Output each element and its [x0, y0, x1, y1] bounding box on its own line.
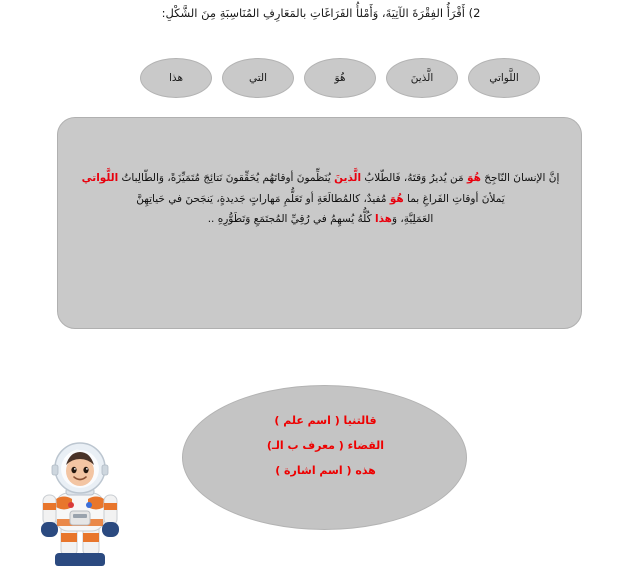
paragraph-panel: إنَّ الإنسانَ النّاجِحَ هُوَ مَن يُديرُ …: [57, 117, 582, 329]
instruction-heading: 2) أَقْرَأُ الفِقْرَةَ الآتِيَةَ، وَأَمْ…: [0, 6, 642, 20]
answer-line-1: قالتنيا ( اسم علم ): [183, 408, 468, 433]
answer-list: قالتنيا ( اسم علم ) القضاء ( معرف ب الـ)…: [183, 408, 468, 483]
filled-answer-1-4: الَّذينَ: [334, 172, 361, 184]
word-bubble-allawati[interactable]: اللَّواتي: [468, 58, 540, 98]
paragraph-segment-1-5: يُنَظِّمونَ أوقاتَهُم يُحَقِّقونَ نَتائِ…: [118, 172, 334, 184]
filled-answer-1-6: اللَّواتي: [82, 172, 119, 184]
filled-answer-1-2: هُوَ: [467, 172, 481, 184]
paragraph-segment-2-3: مُفيدٌ، كالمُطالَعَةِ أو تَعَلُّمِ مَهار…: [136, 193, 390, 205]
word-bubble-huwa[interactable]: هُوَ: [304, 58, 376, 98]
paragraph-segment-2-1: يَملأنَ أوقاتِ الفَراغِ بما: [404, 193, 505, 205]
word-bubble-allati[interactable]: التي: [222, 58, 294, 98]
word-bubble-label: الَّذينَ: [411, 72, 434, 84]
paragraph-line-3: العَمَلِيَّةِ، وَهذا كُلُّهُ يُسهِمُ في …: [58, 209, 583, 230]
paragraph-text: إنَّ الإنسانَ النّاجِحَ هُوَ مَن يُديرُ …: [58, 168, 583, 230]
paragraph-segment-1-1: إنَّ الإنسانَ النّاجِحَ: [481, 172, 560, 184]
word-bank-row: هذا التي هُوَ الَّذينَ اللَّواتي: [140, 55, 540, 101]
word-bubble-allatheena[interactable]: الَّذينَ: [386, 58, 458, 98]
paragraph-line-2: يَملأنَ أوقاتِ الفَراغِ بما هُوَ مُفيدٌ،…: [58, 189, 583, 210]
astronaut-illustration: [28, 437, 132, 572]
word-bubble-label: التي: [249, 72, 267, 84]
word-bubble-hatha[interactable]: هذا: [140, 58, 212, 98]
filled-answer-2-2: هُوَ: [390, 193, 404, 205]
answer-line-2: القضاء ( معرف ب الـ): [183, 433, 468, 458]
word-bubble-label: اللَّواتي: [489, 72, 519, 84]
word-bubble-label: هذا: [169, 72, 183, 84]
answer-line-3: هذه ( اسم اشارة ): [183, 458, 468, 483]
paragraph-segment-3-1: العَمَلِيَّةِ، وَ: [392, 213, 433, 225]
paragraph-line-1: إنَّ الإنسانَ النّاجِحَ هُوَ مَن يُديرُ …: [58, 168, 583, 189]
word-bubble-label: هُوَ: [335, 72, 346, 84]
paragraph-segment-3-3: كُلُّهُ يُسهِمُ في رُقِيِّ المُجتَمَعِ و…: [208, 213, 375, 225]
answer-oval: قالتنيا ( اسم علم ) القضاء ( معرف ب الـ)…: [182, 385, 467, 530]
filled-answer-3-2: هذا: [375, 213, 392, 225]
paragraph-segment-1-3: مَن يُديرُ وَقتَهُ، فَالطّلابُ: [361, 172, 467, 184]
